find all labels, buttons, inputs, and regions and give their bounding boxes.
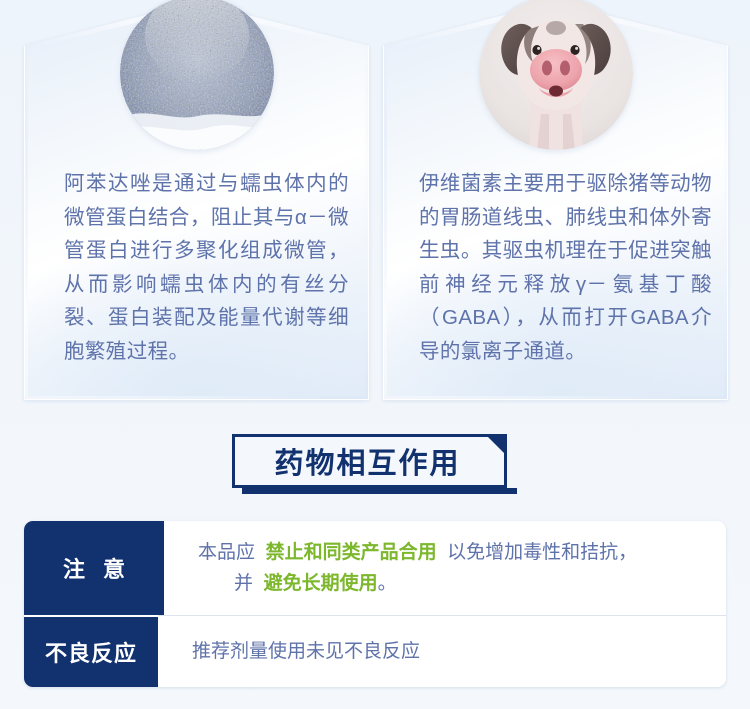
row-label-attention: 注 意 [24, 521, 164, 615]
banner-shadow-bar [242, 488, 517, 494]
text-segment: 。 [378, 573, 397, 594]
card-description-ivermectin: 伊维菌素主要用于驱除猪等动物的胃肠道线虫、肺线虫和体外寄生虫。其驱虫机理在于促进… [419, 167, 712, 368]
table-row: 不良反应 推荐剂量使用未见不良反应 [24, 615, 726, 687]
highlight-segment: 禁止和同类产品合用 [266, 542, 437, 563]
table-row: 注 意 本品应 禁止和同类产品合用 以免增加毒性和拮抗， 并 避免长期使用。 [24, 521, 726, 615]
row-label-adverse-reaction: 不良反应 [24, 616, 158, 687]
promo-page: 阿苯达唑是通过与蠕虫体内的微管蛋白结合，阻止其与α－微管蛋白进行多聚化组成微管，… [0, 0, 750, 709]
content-line: 推荐剂量使用未见不良反应 [192, 636, 704, 667]
info-card-ivermectin: 伊维菌素主要用于驱除猪等动物的胃肠道线虫、肺线虫和体外寄生虫。其驱虫机理在于促进… [383, 2, 728, 400]
text-segment: 并 [234, 573, 264, 594]
card-description-albendazole: 阿苯达唑是通过与蠕虫体内的微管蛋白结合，阻止其与α－微管蛋白进行多聚化组成微管，… [64, 167, 349, 368]
granule-photo [120, 0, 274, 150]
text-segment: 本品应 [198, 542, 266, 563]
section-title: 药物相互作用 [232, 434, 507, 488]
pig-photo [479, 0, 633, 150]
section-banner: 药物相互作用 [232, 434, 507, 488]
content-line: 本品应 禁止和同类产品合用 以免增加毒性和拮抗， [198, 537, 704, 568]
info-card-albendazole: 阿苯达唑是通过与蠕虫体内的微管蛋白结合，阻止其与α－微管蛋白进行多聚化组成微管，… [24, 2, 369, 400]
section-banner-wrap: 药物相互作用 [0, 424, 750, 504]
highlight-segment: 避免长期使用 [264, 573, 378, 594]
text-segment: 推荐剂量使用未见不良反应 [192, 641, 420, 662]
row-content-attention: 本品应 禁止和同类产品合用 以免增加毒性和拮抗， 并 避免长期使用。 [164, 521, 726, 615]
content-line: 并 避免长期使用。 [198, 568, 704, 599]
info-card-row: 阿苯达唑是通过与蠕虫体内的微管蛋白结合，阻止其与α－微管蛋白进行多聚化组成微管，… [0, 0, 750, 410]
text-segment: 以免增加毒性和拮抗， [437, 542, 638, 563]
row-content-adverse-reaction: 推荐剂量使用未见不良反应 [158, 616, 726, 687]
drug-interaction-table: 注 意 本品应 禁止和同类产品合用 以免增加毒性和拮抗， 并 避免长期使用。 不… [24, 521, 726, 687]
